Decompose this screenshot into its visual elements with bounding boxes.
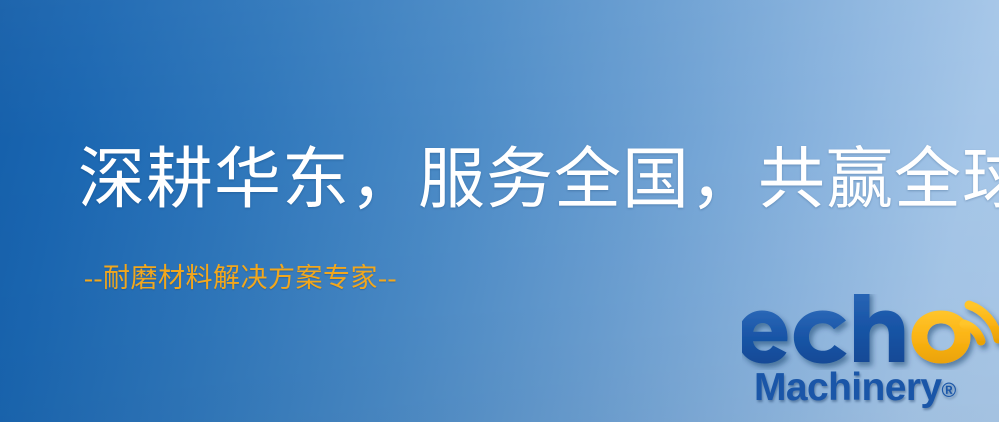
hero-banner: 深耕华东，服务全国，共赢全球 --耐磨材料解决方案专家-- [0,0,999,422]
logo-letter-c [794,311,847,364]
logo-wordmark-echo [742,294,999,370]
logo-letter-o-yellow [912,311,971,364]
logo-tagline-text: Machinery [754,366,942,409]
banner-headline: 深耕华东，服务全国，共赢全球 [78,147,999,214]
registered-trademark-icon: ® [942,380,957,402]
logo-letter-e [742,311,788,364]
logo-tagline: Machinery® [754,368,956,407]
company-logo[interactable]: Machinery® [742,292,999,422]
logo-letter-h [854,294,904,362]
banner-subtitle: --耐磨材料解决方案专家-- [84,265,397,292]
